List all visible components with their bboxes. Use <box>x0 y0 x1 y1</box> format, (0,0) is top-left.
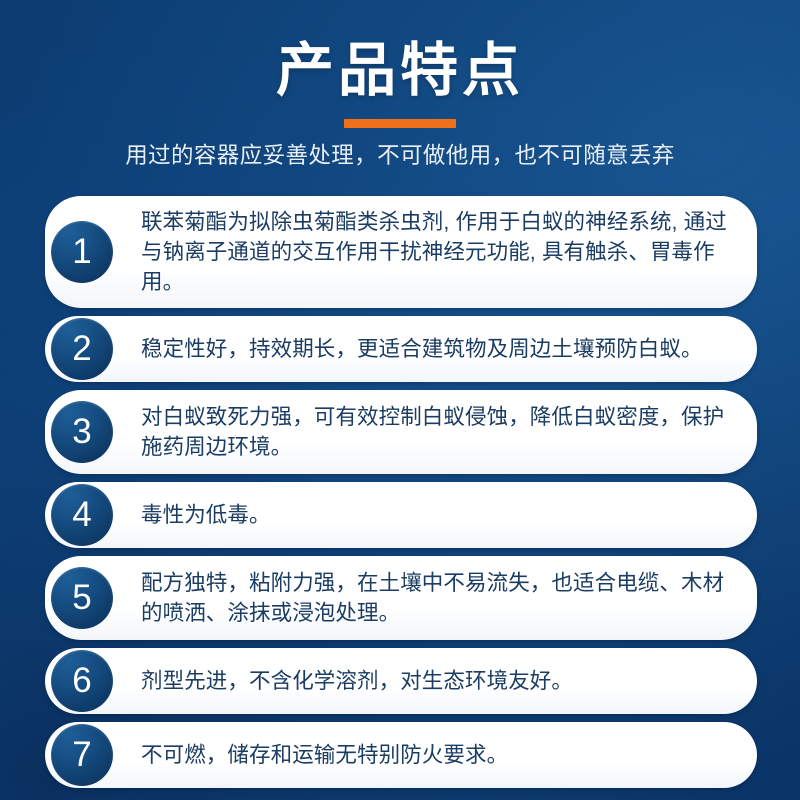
feature-number-6: 6 <box>72 663 91 700</box>
feature-number-3: 3 <box>72 414 91 451</box>
feature-item-5: 5 配方独特，粘附力强，在土壤中不易流失，也适合电缆、木材的喷洒、涂抹或浸泡处理… <box>45 556 757 640</box>
feature-number-badge-7: 7 <box>51 724 113 786</box>
feature-number-badge-5: 5 <box>51 567 113 629</box>
poster-header: 产品特点 用过的容器应妥善处理，不可做他用，也不可随意丢弃 <box>0 0 800 169</box>
feature-number-badge-6: 6 <box>51 650 113 712</box>
feature-item-3: 3 对白蚁致死力强，可有效控制白蚁侵蚀，降低白蚁密度，保护施药周边环境。 <box>45 390 757 474</box>
feature-text-3: 对白蚁致死力强，可有效控制白蚁侵蚀，降低白蚁密度，保护施药周边环境。 <box>141 402 729 462</box>
feature-number-4: 4 <box>72 497 91 534</box>
product-features-poster: 产品特点 用过的容器应妥善处理，不可做他用，也不可随意丢弃 1 联苯菊酯为拟除虫… <box>0 0 800 800</box>
page-subtitle: 用过的容器应妥善处理，不可做他用，也不可随意丢弃 <box>0 143 800 169</box>
page-title: 产品特点 <box>0 0 800 102</box>
feature-text-7: 不可燃，储存和运输无特别防火要求。 <box>141 740 508 770</box>
feature-number-badge-2: 2 <box>51 318 113 380</box>
feature-number-2: 2 <box>72 331 91 368</box>
feature-text-2: 稳定性好，持效期长，更适合建筑物及周边土壤预防白蚁。 <box>141 334 703 364</box>
feature-number-1: 1 <box>72 234 91 271</box>
feature-item-2: 2 稳定性好，持效期长，更适合建筑物及周边土壤预防白蚁。 <box>45 316 757 382</box>
feature-number-badge-4: 4 <box>51 484 113 546</box>
feature-item-7: 7 不可燃，储存和运输无特别防火要求。 <box>45 722 757 788</box>
feature-item-6: 6 剂型先进，不含化学溶剂，对生态环境友好。 <box>45 648 757 714</box>
feature-item-1: 1 联苯菊酯为拟除虫菊酯类杀虫剂, 作用于白蚁的神经系统, 通过与钠离子通道的交… <box>45 196 757 308</box>
feature-text-6: 剂型先进，不含化学溶剂，对生态环境友好。 <box>141 666 573 696</box>
feature-text-4: 毒性为低毒。 <box>141 500 271 530</box>
feature-number-badge-3: 3 <box>51 401 113 463</box>
feature-text-1: 联苯菊酯为拟除虫菊酯类杀虫剂, 作用于白蚁的神经系统, 通过与钠离子通道的交互作… <box>141 207 729 297</box>
feature-number-7: 7 <box>72 737 91 774</box>
feature-item-4: 4 毒性为低毒。 <box>45 482 757 548</box>
feature-list: 1 联苯菊酯为拟除虫菊酯类杀虫剂, 作用于白蚁的神经系统, 通过与钠离子通道的交… <box>45 196 757 796</box>
title-accent-rule <box>344 119 456 128</box>
feature-number-5: 5 <box>72 580 91 617</box>
feature-text-5: 配方独特，粘附力强，在土壤中不易流失，也适合电缆、木材的喷洒、涂抹或浸泡处理。 <box>141 568 729 628</box>
feature-number-badge-1: 1 <box>51 221 113 283</box>
